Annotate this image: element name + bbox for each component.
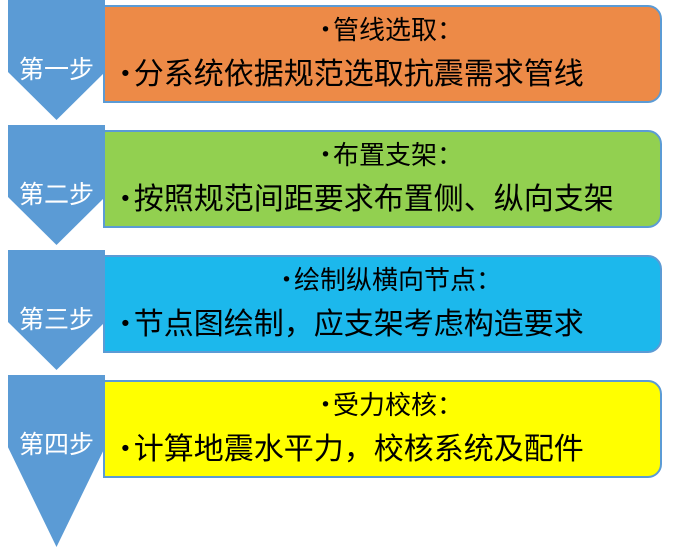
- bullet-icon: •: [281, 270, 294, 291]
- step-1-detail-line: •分系统依据规范选取抗震需求管线: [105, 52, 660, 98]
- bullet-icon: •: [119, 437, 134, 462]
- step-4-content-box[interactable]: •受力校核： •计算地震水平力，校核系统及配件: [103, 380, 662, 478]
- step-4-heading: 受力校核：: [333, 391, 463, 421]
- step-4-heading-line: •受力校核：: [105, 386, 660, 426]
- bullet-icon: •: [320, 20, 333, 41]
- flowchart-canvas: 第一步 •管线选取： •分系统依据规范选取抗震需求管线 第二步 •布置支架： •…: [0, 0, 676, 510]
- bullet-icon: •: [320, 395, 333, 416]
- step-2-heading-line: •布置支架：: [105, 136, 660, 176]
- step-4-label: 第四步: [8, 430, 105, 460]
- bullet-icon: •: [119, 62, 134, 87]
- step-4-detail: 计算地震水平力，校核系统及配件: [134, 432, 584, 467]
- step-1-heading-line: •管线选取：: [105, 11, 660, 51]
- step-2-label: 第二步: [8, 180, 105, 210]
- step-3-heading-line: •绘制纵横向节点：: [105, 261, 660, 301]
- step-4-chevron-shape: [8, 375, 105, 547]
- step-3-heading: 绘制纵横向节点：: [294, 266, 502, 296]
- bullet-icon: •: [119, 312, 134, 337]
- step-2-detail: 按照规范间距要求布置侧、纵向支架: [134, 182, 614, 217]
- step-4-detail-line: •计算地震水平力，校核系统及配件: [105, 427, 660, 473]
- step-3-detail: 节点图绘制，应支架考虑构造要求: [134, 307, 584, 342]
- step-3-content-box[interactable]: •绘制纵横向节点： •节点图绘制，应支架考虑构造要求: [103, 255, 662, 353]
- step-1-label: 第一步: [8, 55, 105, 85]
- step-3-label: 第三步: [8, 305, 105, 335]
- step-2-detail-line: •按照规范间距要求布置侧、纵向支架: [105, 177, 660, 223]
- step-1-content-box[interactable]: •管线选取： •分系统依据规范选取抗震需求管线: [103, 5, 662, 103]
- step-2-content-box[interactable]: •布置支架： •按照规范间距要求布置侧、纵向支架: [103, 130, 662, 228]
- bullet-icon: •: [320, 145, 333, 166]
- bullet-icon: •: [119, 187, 134, 212]
- step-1-detail: 分系统依据规范选取抗震需求管线: [134, 57, 584, 92]
- step-1-heading: 管线选取：: [333, 16, 463, 46]
- step-3-detail-line: •节点图绘制，应支架考虑构造要求: [105, 302, 660, 348]
- step-2-heading: 布置支架：: [333, 141, 463, 171]
